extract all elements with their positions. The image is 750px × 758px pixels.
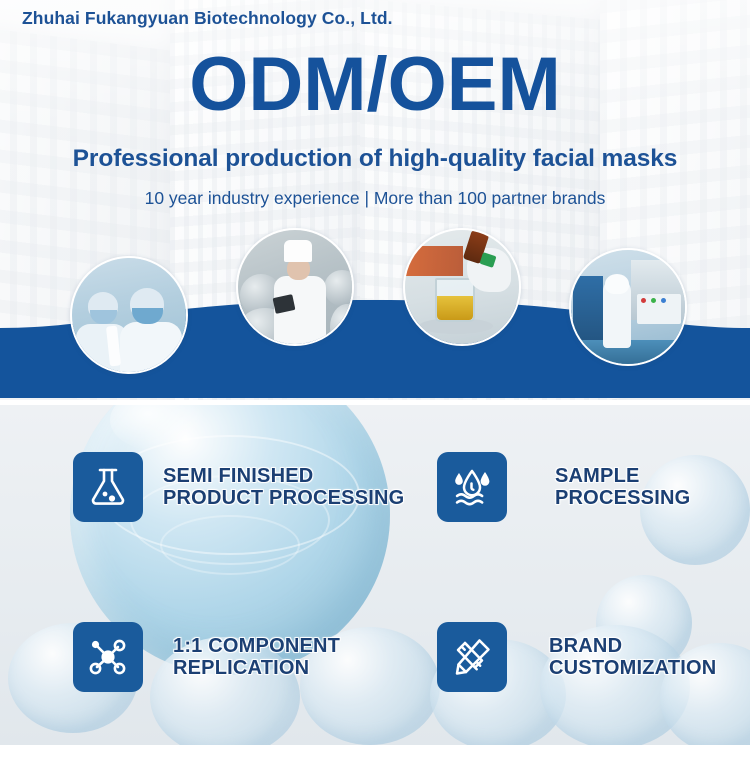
photo-cleanroom-filling-machine	[571, 250, 685, 364]
flask-icon	[73, 452, 143, 522]
bottom-white-strip	[0, 745, 750, 758]
feature-label: SAMPLE PROCESSING	[555, 465, 690, 510]
promo-banner: Zhuhai Fukangyuan Biotechnology Co., Ltd…	[0, 0, 750, 758]
company-name: Zhuhai Fukangyuan Biotechnology Co., Ltd…	[22, 8, 393, 29]
photo-circle-1	[70, 256, 188, 374]
water-ripple	[160, 515, 300, 575]
molecule-icon	[73, 622, 143, 692]
feature-label: 1:1 COMPONENT REPLICATION	[173, 635, 340, 680]
droplet-icon	[437, 452, 507, 522]
feature-label: BRAND CUSTOMIZATION	[549, 635, 716, 680]
photo-circle-3	[403, 228, 521, 346]
hero-headline: ODM/OEM	[0, 49, 750, 121]
feature-label: SEMI FINISHED PRODUCT PROCESSING	[163, 465, 404, 510]
feature-brand-customization: BRAND CUSTOMIZATION	[437, 622, 716, 692]
feature-component-replication: 1:1 COMPONENT REPLICATION	[73, 622, 340, 692]
photo-circle-2	[236, 228, 354, 346]
feature-sample-processing: SAMPLE PROCESSING	[437, 452, 690, 522]
photo-circle-4	[569, 248, 687, 366]
hero-subtitle: Professional production of high-quality …	[0, 145, 750, 173]
pen-ruler-icon	[437, 622, 507, 692]
feature-semi-finished-product-processing: SEMI FINISHED PRODUCT PROCESSING	[73, 452, 404, 522]
photo-beaker-and-sample-vial	[405, 230, 519, 344]
photo-workers-filling-vials	[72, 258, 186, 372]
photo-technician-with-tablet	[238, 230, 352, 344]
hero-tagline: 10 year industry experience | More than …	[0, 188, 750, 209]
